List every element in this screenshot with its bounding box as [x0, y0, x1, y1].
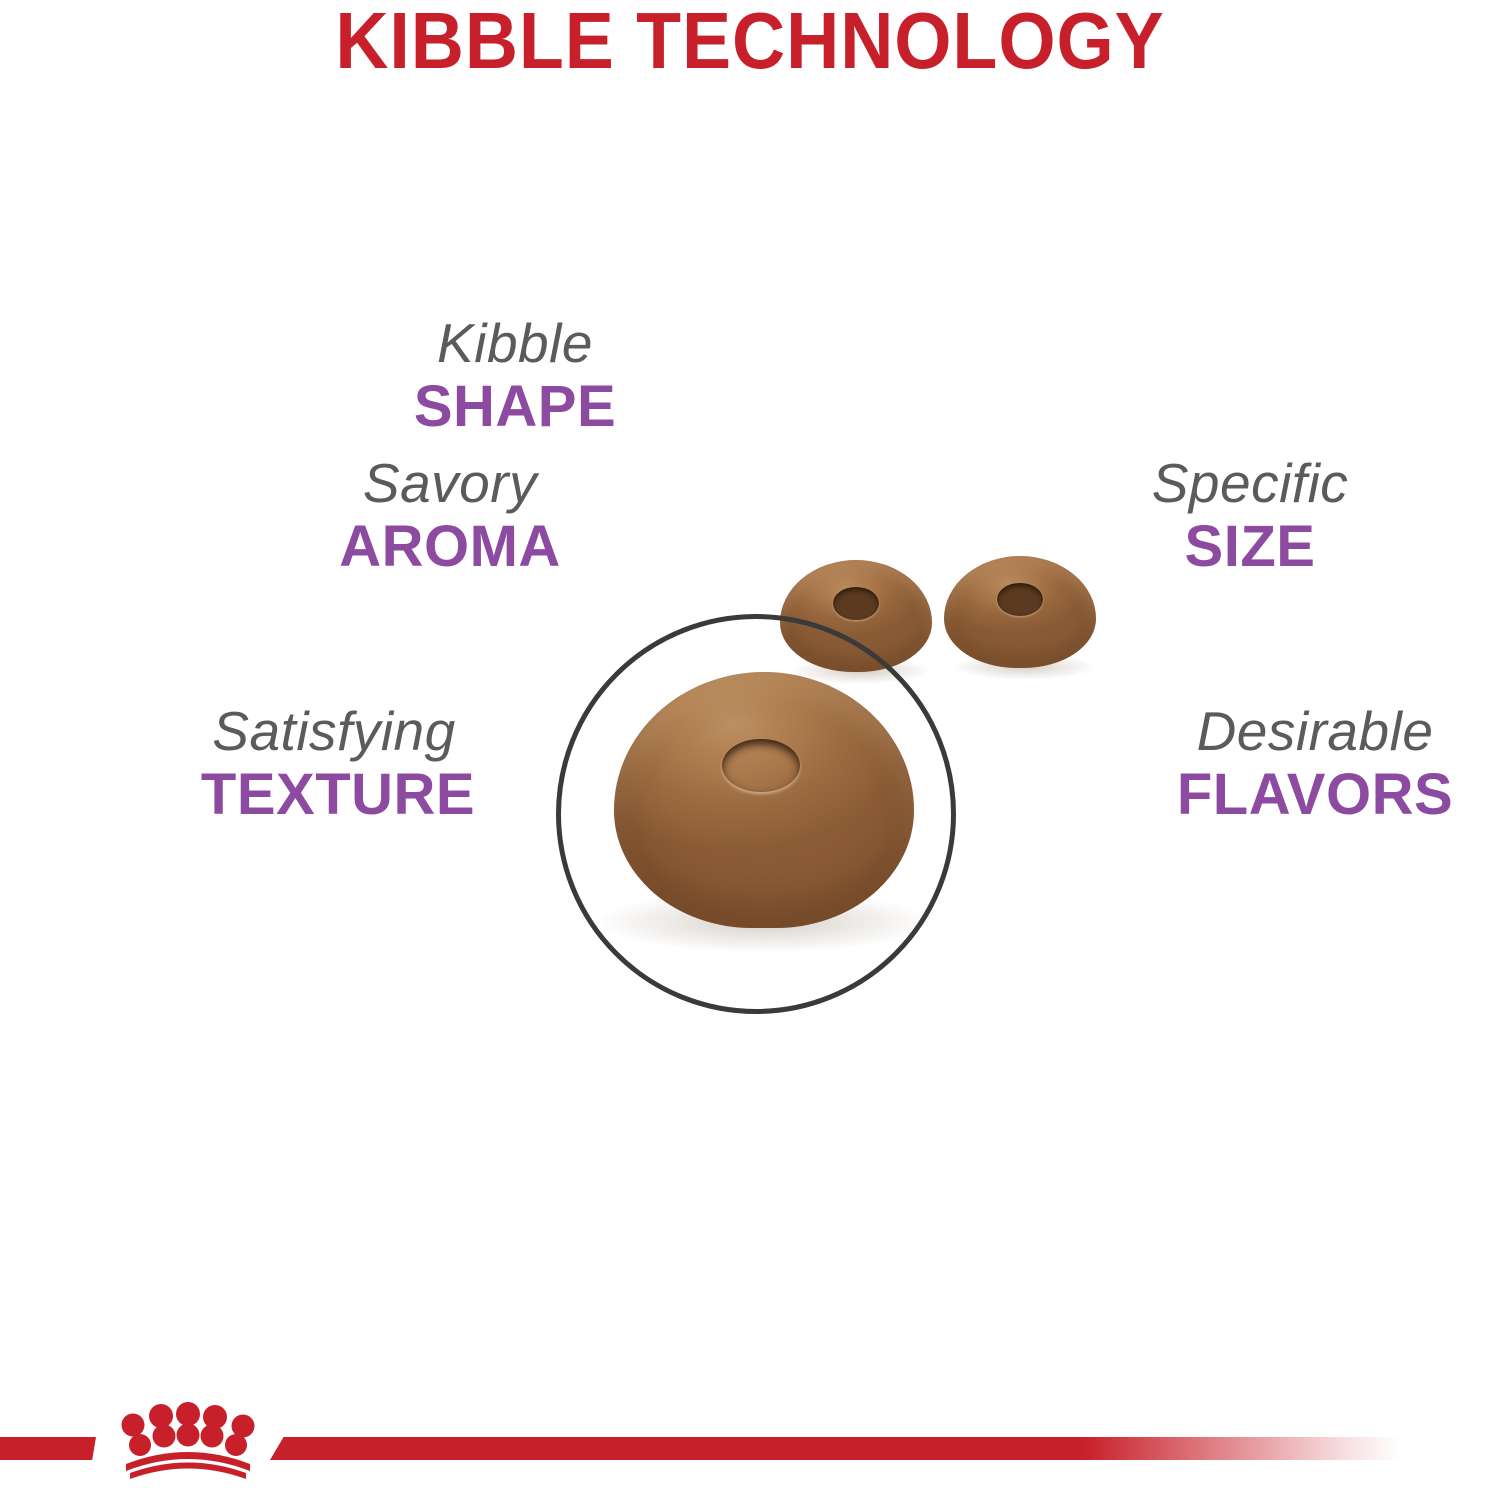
brand-rule-right-icon	[270, 1437, 1400, 1460]
feature-label-shape: Kibble SHAPE	[0, 312, 1030, 440]
feature-aroma-bottom-text: AROMA	[0, 514, 900, 580]
feature-size-top-text: Specific	[1065, 452, 1435, 514]
royal-canin-crown-logo-icon	[108, 1402, 268, 1480]
feature-flavors-top-text: Desirable	[1130, 700, 1500, 762]
feature-shape-bottom-text: SHAPE	[0, 374, 1030, 440]
brand-rule-left-icon	[0, 1437, 96, 1460]
feature-texture-bottom-text: TEXTURE	[0, 762, 676, 828]
feature-label-flavors: Desirable FLAVORS	[1130, 700, 1500, 828]
feature-texture-top-text: Satisfying	[0, 700, 676, 762]
kibble-small-right-hole	[997, 583, 1043, 617]
feature-size-bottom-text: SIZE	[1065, 514, 1435, 580]
feature-flavors-bottom-text: FLAVORS	[1130, 762, 1500, 828]
kibble-large-shadow	[590, 890, 938, 954]
kibble-technology-infographic: KIBBLE TECHNOLOGY Kibble SHAPE Savory	[0, 0, 1500, 1500]
kibble-large-hole	[722, 739, 800, 793]
kibble-small-left-hole	[833, 587, 879, 621]
feature-label-size: Specific SIZE	[1065, 452, 1435, 580]
feature-label-aroma: Savory AROMA	[0, 452, 900, 580]
footer-brand-bar	[0, 1390, 1500, 1500]
feature-aroma-top-text: Savory	[0, 452, 900, 514]
feature-shape-top-text: Kibble	[0, 312, 1030, 374]
kibble-small-right-shadow	[953, 654, 1096, 680]
feature-label-texture: Satisfying TEXTURE	[0, 700, 676, 828]
page-title: KIBBLE TECHNOLOGY	[60, 0, 1440, 84]
kibble-small-left-shadow	[789, 658, 932, 684]
